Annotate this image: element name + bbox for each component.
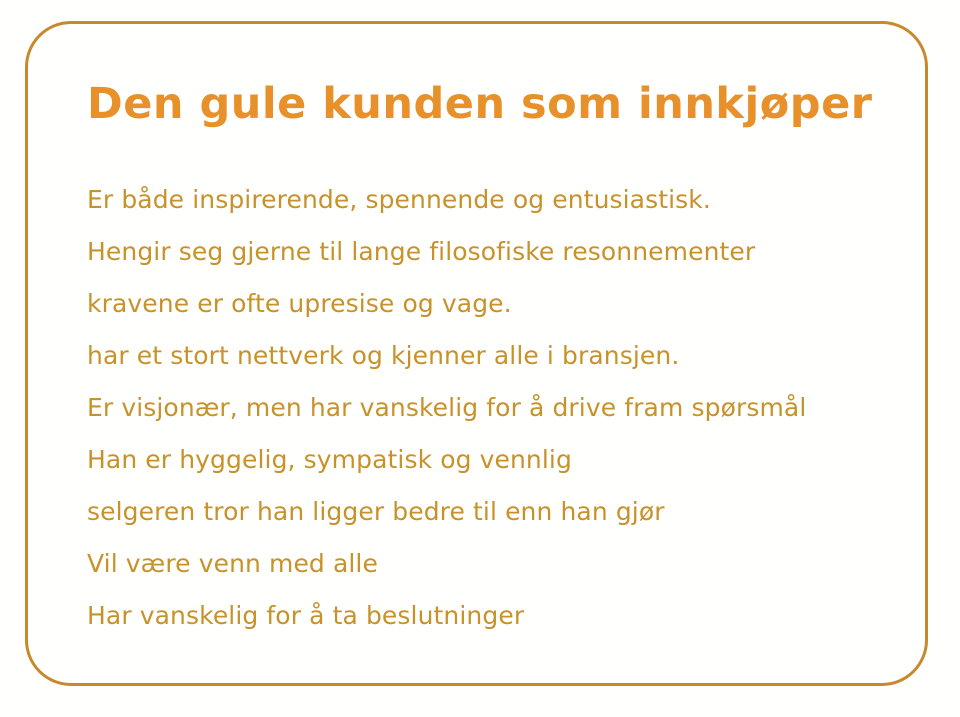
- list-item: Er både inspirerende, spennende og entus…: [87, 174, 907, 226]
- list-item: Er visjonær, men har vanskelig for å dri…: [87, 382, 907, 434]
- list-item: Vil være venn med alle: [87, 538, 907, 590]
- list-item: Har vanskelig for å ta beslutninger: [87, 590, 907, 642]
- slide-content: Den gule kunden som innkjøper Er både in…: [28, 24, 931, 689]
- slide-canvas: Den gule kunden som innkjøper Er både in…: [0, 0, 960, 717]
- bullet-list: Er både inspirerende, spennende og entus…: [87, 174, 907, 642]
- page-title: Den gule kunden som innkjøper: [87, 79, 872, 129]
- list-item: kravene er ofte upresise og vage.: [87, 278, 907, 330]
- list-item: Hengir seg gjerne til lange filosofiske …: [87, 226, 907, 278]
- list-item: selgeren tror han ligger bedre til enn h…: [87, 486, 907, 538]
- list-item: Han er hyggelig, sympatisk og vennlig: [87, 434, 907, 486]
- slide-border-frame: Den gule kunden som innkjøper Er både in…: [25, 21, 928, 686]
- list-item: har et stort nettverk og kjenner alle i …: [87, 330, 907, 382]
